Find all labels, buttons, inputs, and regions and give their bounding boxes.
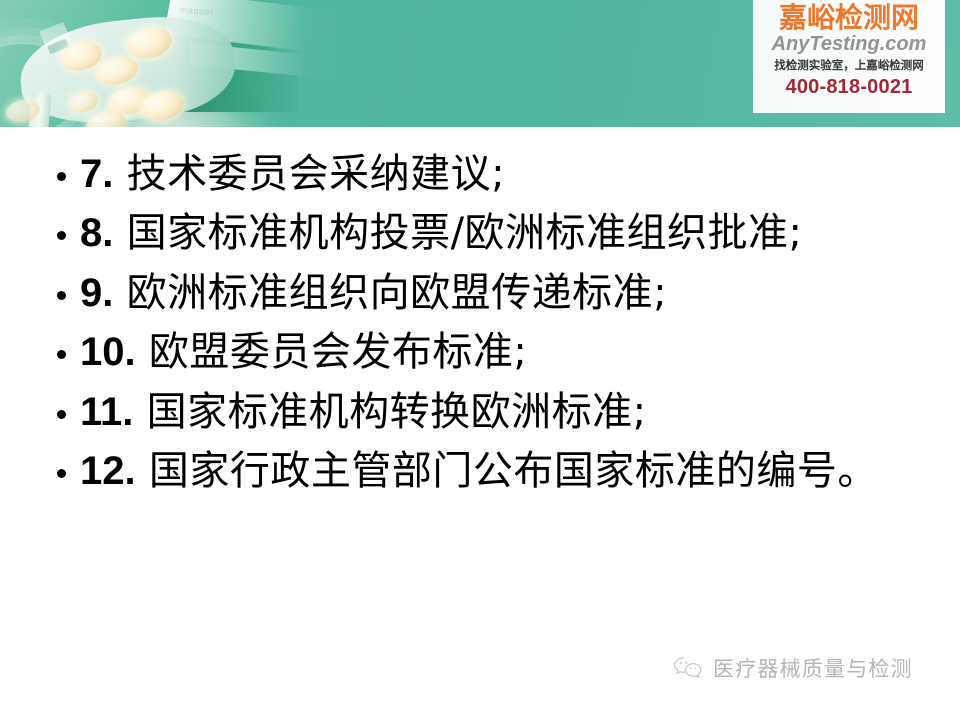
footer-watermark: 医疗器械质量与检测 bbox=[672, 653, 913, 683]
logo-phone-number: 400-818-0021 bbox=[786, 76, 913, 98]
anytesting-logo: 嘉峪检测网 AnyTesting.com 找检测实验室，上嘉峪检测网 400-8… bbox=[753, 0, 945, 113]
bullet-dot-icon bbox=[57, 291, 66, 300]
slide-canvas: maquet 嘉峪检测网 AnyTesting.com 找检测实验室，上嘉峪检测… bbox=[0, 0, 960, 720]
bullet-number-9: 9. bbox=[80, 271, 113, 315]
logo-tagline: 找检测实验室，上嘉峪检测网 bbox=[774, 59, 924, 73]
bullet-item-8: 8. 国家标准机构投票/欧洲标准组织批准; bbox=[0, 209, 960, 257]
bullet-dot-icon bbox=[57, 231, 66, 240]
bullet-list: 7. 技术委员会采纳建议; 8. 国家标准机构投票/欧洲标准组织批准; 9. 欧… bbox=[0, 150, 960, 506]
bullet-text-11: 11. 国家标准机构转换欧洲标准; bbox=[80, 388, 912, 436]
bullet-number-12: 12. bbox=[80, 449, 136, 493]
bullet-dot-icon bbox=[57, 469, 66, 478]
bullet-item-12: 12. 国家行政主管部门公布国家标准的编号。 bbox=[0, 447, 960, 495]
bullet-text-8: 8. 国家标准机构投票/欧洲标准组织批准; bbox=[80, 209, 912, 257]
bullet-body-9: 欧洲标准组织向欧盟传递标准; bbox=[127, 270, 667, 316]
surgical-lights-photo: maquet bbox=[0, 0, 340, 127]
bullet-text-12: 12. 国家行政主管部门公布国家标准的编号。 bbox=[80, 447, 912, 495]
bullet-text-9: 9. 欧洲标准组织向欧盟传递标准; bbox=[80, 269, 912, 317]
bullet-body-12: 国家行政主管部门公布国家标准的编号。 bbox=[149, 448, 878, 494]
bullet-number-8: 8. bbox=[80, 211, 113, 255]
bullet-item-9: 9. 欧洲标准组织向欧盟传递标准; bbox=[0, 269, 960, 317]
bullet-number-10: 10. bbox=[80, 330, 136, 374]
bullet-text-10: 10. 欧盟委员会发布标准; bbox=[80, 328, 912, 376]
bullet-dot-icon bbox=[57, 410, 66, 419]
logo-english-name: AnyTesting.com bbox=[772, 33, 927, 55]
header-band: maquet 嘉峪检测网 AnyTesting.com 找检测实验室，上嘉峪检测… bbox=[0, 0, 960, 127]
bullet-item-11: 11. 国家标准机构转换欧洲标准; bbox=[0, 388, 960, 436]
logo-chinese-name: 嘉峪检测网 bbox=[779, 3, 919, 32]
bullet-body-10: 欧盟委员会发布标准; bbox=[149, 329, 527, 375]
bullet-body-11: 国家标准机构转换欧洲标准; bbox=[147, 389, 647, 435]
bullet-dot-icon bbox=[57, 172, 66, 181]
bullet-number-7: 7. bbox=[80, 152, 113, 196]
bullet-text-7: 7. 技术委员会采纳建议; bbox=[80, 150, 912, 198]
bullet-number-11: 11. bbox=[80, 390, 133, 434]
footer-watermark-text: 医疗器械质量与检测 bbox=[713, 653, 913, 683]
bullet-item-10: 10. 欧盟委员会发布标准; bbox=[0, 328, 960, 376]
bullet-body-7: 技术委员会采纳建议; bbox=[127, 151, 505, 197]
bullet-dot-icon bbox=[57, 350, 66, 359]
bullet-body-8: 国家标准机构投票/欧洲标准组织批准; bbox=[127, 210, 803, 256]
wechat-icon bbox=[672, 655, 704, 681]
bullet-item-7: 7. 技术委员会采纳建议; bbox=[0, 150, 960, 198]
photo-fade-overlay bbox=[0, 0, 340, 127]
